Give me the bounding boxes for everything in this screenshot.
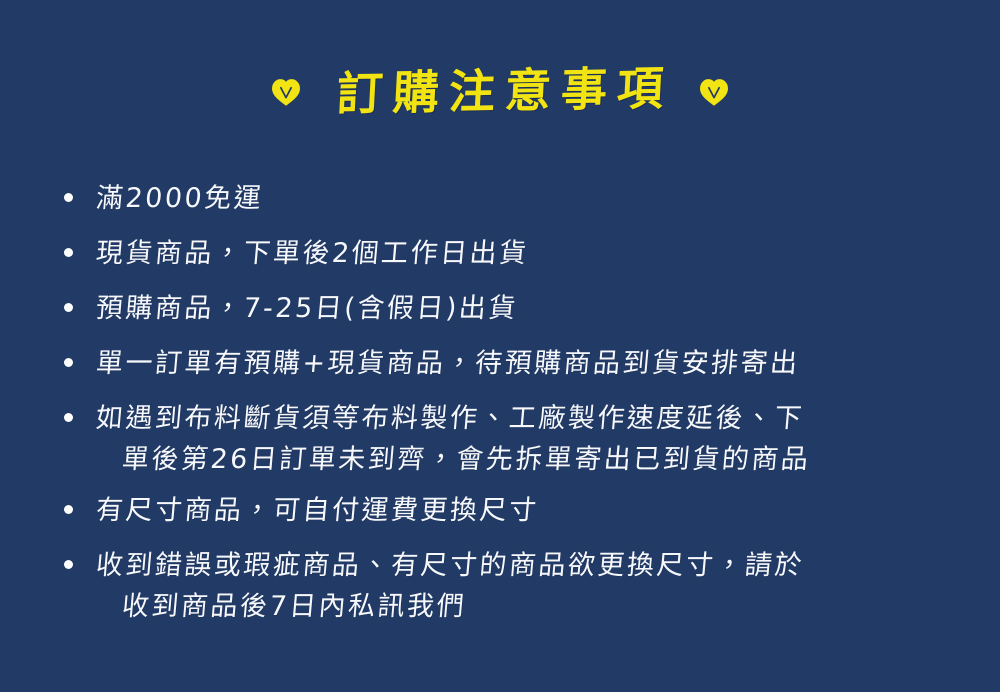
list-item: 收到錯誤或瑕疵商品、有尺寸的商品欲更換尺寸，請於 收到商品後7日內私訊我們 xyxy=(56,545,962,627)
notice-line: 單後第26日訂單未到齊，會先拆單寄出已到貨的商品 xyxy=(94,439,964,480)
notice-list: 滿2000免運 現貨商品，下單後2個工作日出貨 預購商品，7-25日(含假日)出… xyxy=(56,178,962,637)
list-item: 有尺寸商品，可自付運費更換尺寸 xyxy=(56,490,962,531)
bullet-dot-icon xyxy=(64,303,73,312)
list-item: 單一訂單有預購+現貨商品，待預購商品到貨安排寄出 xyxy=(56,343,962,384)
notice-line: 收到商品後7日內私訊我們 xyxy=(94,586,964,627)
list-item: 現貨商品，下單後2個工作日出貨 xyxy=(56,233,962,274)
heart-icon-right xyxy=(699,78,729,106)
bullet-dot-icon xyxy=(64,560,73,569)
notice-poster: 訂購注意事項 滿2000免運 現貨商品，下單後2個工作日出貨 預購商品，7-25… xyxy=(0,0,1000,692)
bullet-dot-icon xyxy=(64,413,73,422)
page-title: 訂購注意事項 xyxy=(0,68,1000,114)
bullet-dot-icon xyxy=(64,248,73,257)
heart-icon-left xyxy=(271,78,301,106)
list-item: 滿2000免運 xyxy=(56,178,962,219)
notice-line: 如遇到布料斷貨須等布料製作、工廠製作速度延後、下 xyxy=(94,398,964,439)
notice-line: 滿2000免運 xyxy=(94,178,964,219)
notice-line: 有尺寸商品，可自付運費更換尺寸 xyxy=(94,490,964,531)
list-item: 預購商品，7-25日(含假日)出貨 xyxy=(56,288,962,329)
bullet-dot-icon xyxy=(64,358,73,367)
notice-line: 收到錯誤或瑕疵商品、有尺寸的商品欲更換尺寸，請於 xyxy=(94,545,964,586)
bullet-dot-icon xyxy=(64,193,73,202)
notice-line: 預購商品，7-25日(含假日)出貨 xyxy=(94,288,964,329)
notice-line: 單一訂單有預購+現貨商品，待預購商品到貨安排寄出 xyxy=(94,343,964,384)
page-title-text: 訂購注意事項 xyxy=(326,65,675,117)
list-item: 如遇到布料斷貨須等布料製作、工廠製作速度延後、下 單後第26日訂單未到齊，會先拆… xyxy=(56,398,962,480)
bullet-dot-icon xyxy=(64,505,73,514)
notice-line: 現貨商品，下單後2個工作日出貨 xyxy=(94,233,964,274)
